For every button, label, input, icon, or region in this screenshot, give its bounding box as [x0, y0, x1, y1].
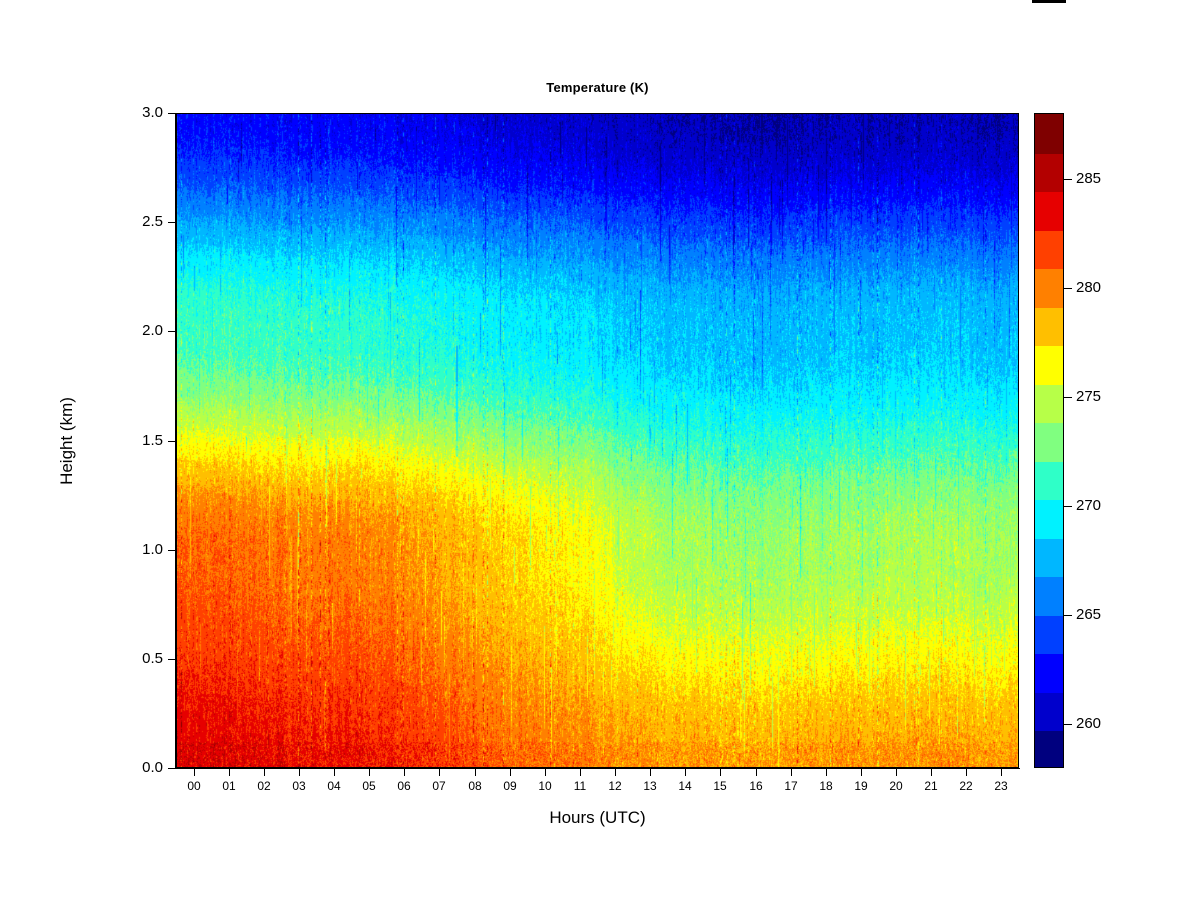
colorbar-tick-label: 260	[1076, 716, 1101, 731]
colorbar-tick-label: 270	[1076, 498, 1101, 513]
y-axis-tick-labels: 0.00.51.01.52.02.53.0	[103, 0, 163, 900]
y-axis-tick-label: 1.5	[103, 433, 163, 448]
colorbar	[1034, 113, 1064, 768]
top-edge-artifact	[1032, 0, 1066, 3]
x-axis-tick	[720, 769, 721, 776]
x-axis-tick	[931, 769, 932, 776]
x-axis-line	[176, 768, 1020, 769]
x-axis-tick-label: 10	[525, 779, 565, 793]
colorbar-tick	[1064, 506, 1072, 507]
colorbar-gradient	[1034, 113, 1064, 768]
y-axis-tick	[168, 659, 175, 660]
colorbar-band	[1035, 538, 1063, 578]
x-axis-title: Hours (UTC)	[176, 808, 1019, 828]
y-axis-tick	[168, 222, 175, 223]
x-axis-tick-label: 15	[700, 779, 740, 793]
x-axis-tick	[1001, 769, 1002, 776]
colorbar-tick-label: 275	[1076, 389, 1101, 404]
colorbar-band	[1035, 345, 1063, 385]
temperature-time-height-figure: Temperature (K) 0.00.51.01.52.02.53.0 00…	[0, 0, 1200, 900]
colorbar-band	[1035, 191, 1063, 231]
x-axis-tick	[194, 769, 195, 776]
colorbar-tick	[1064, 615, 1072, 616]
x-axis-tick-label: 17	[771, 779, 811, 793]
colorbar-tick	[1064, 179, 1072, 180]
y-axis-tick	[168, 768, 175, 769]
y-axis-line	[175, 113, 176, 769]
colorbar-band	[1035, 422, 1063, 462]
colorbar-band	[1035, 692, 1063, 732]
x-axis-tick-label: 14	[665, 779, 705, 793]
x-axis-tick-label: 01	[209, 779, 249, 793]
x-axis-tick	[861, 769, 862, 776]
x-axis-tick-label: 22	[946, 779, 986, 793]
colorbar-band	[1035, 307, 1063, 347]
x-axis-tick	[545, 769, 546, 776]
x-axis-tick-label: 05	[349, 779, 389, 793]
colorbar-tick-label: 280	[1076, 280, 1101, 295]
colorbar-band	[1035, 730, 1063, 768]
colorbar-band	[1035, 499, 1063, 539]
colorbar-band	[1035, 114, 1063, 154]
heatmap-plot-area[interactable]	[176, 113, 1019, 768]
x-axis-tick	[299, 769, 300, 776]
y-axis-tick	[168, 441, 175, 442]
y-axis-tick-label: 3.0	[103, 105, 163, 120]
colorbar-band	[1035, 653, 1063, 693]
x-axis-tick	[896, 769, 897, 776]
y-axis-tick	[168, 550, 175, 551]
x-axis-tick-label: 18	[806, 779, 846, 793]
x-axis-tick-label: 19	[841, 779, 881, 793]
x-axis-tick	[439, 769, 440, 776]
x-axis-tick-label: 02	[244, 779, 284, 793]
x-axis-tick	[229, 769, 230, 776]
x-axis-tick-label: 12	[595, 779, 635, 793]
colorbar-tick-label: 265	[1076, 607, 1101, 622]
x-axis-tick	[510, 769, 511, 776]
x-axis-tick-label: 04	[314, 779, 354, 793]
colorbar-band	[1035, 384, 1063, 424]
page-title: Temperature (K)	[176, 80, 1019, 95]
x-axis-tick-label: 16	[736, 779, 776, 793]
x-axis-tick-label: 23	[981, 779, 1021, 793]
x-axis-tick-label: 13	[630, 779, 670, 793]
x-axis-tick	[264, 769, 265, 776]
x-axis-tick	[404, 769, 405, 776]
y-axis-title-wrap: Height (km)	[52, 113, 82, 768]
y-axis-tick-label: 0.5	[103, 651, 163, 666]
x-axis-tick	[966, 769, 967, 776]
y-axis-tick-label: 2.0	[103, 323, 163, 338]
y-axis-tick-label: 1.0	[103, 542, 163, 557]
x-axis-tick-label: 09	[490, 779, 530, 793]
colorbar-tick-label: 285	[1076, 171, 1101, 186]
x-axis-tick-label: 06	[384, 779, 424, 793]
colorbar-band	[1035, 576, 1063, 616]
colorbar-band	[1035, 615, 1063, 655]
x-axis-tick	[580, 769, 581, 776]
x-axis-tick-label: 03	[279, 779, 319, 793]
y-axis-title: Height (km)	[57, 397, 77, 485]
y-axis-tick-label: 0.0	[103, 760, 163, 775]
colorbar-band	[1035, 268, 1063, 308]
x-axis-tick-label: 00	[174, 779, 214, 793]
x-axis-tick-label: 21	[911, 779, 951, 793]
x-axis-tick	[615, 769, 616, 776]
y-axis-tick	[168, 113, 175, 114]
x-axis-tick	[685, 769, 686, 776]
x-axis-tick-label: 11	[560, 779, 600, 793]
colorbar-tick	[1064, 397, 1072, 398]
colorbar-band	[1035, 461, 1063, 501]
x-axis-tick	[756, 769, 757, 776]
y-axis-tick	[168, 331, 175, 332]
temperature-heatmap-canvas[interactable]	[177, 114, 1019, 768]
x-axis-tick	[369, 769, 370, 776]
x-axis-tick-label: 08	[455, 779, 495, 793]
x-axis-tick	[826, 769, 827, 776]
x-axis-tick	[650, 769, 651, 776]
colorbar-band	[1035, 230, 1063, 270]
x-axis-tick	[475, 769, 476, 776]
colorbar-tick	[1064, 288, 1072, 289]
x-axis-tick	[791, 769, 792, 776]
y-axis-tick-label: 2.5	[103, 214, 163, 229]
colorbar-band	[1035, 153, 1063, 193]
x-axis-tick-label: 20	[876, 779, 916, 793]
x-axis-tick-label: 07	[419, 779, 459, 793]
colorbar-tick	[1064, 724, 1072, 725]
x-axis-tick	[334, 769, 335, 776]
